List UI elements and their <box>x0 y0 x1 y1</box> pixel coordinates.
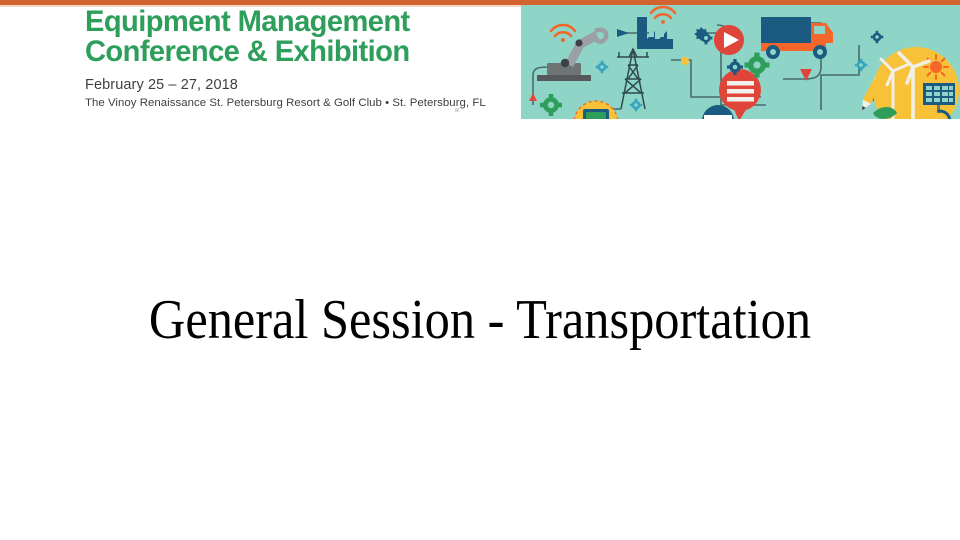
play-button-icon <box>714 25 744 55</box>
conference-venue: The Vinoy Renaissance St. Petersburg Res… <box>85 96 515 110</box>
conference-name: Equipment Management Conference & Exhibi… <box>85 7 502 67</box>
conference-banner-image <box>521 5 960 119</box>
conference-date: February 25 – 27, 2018 <box>85 77 515 94</box>
conference-lockup: Equipment Management Conference & Exhibi… <box>85 7 515 110</box>
conference-name-line1: Equipment Management <box>85 5 410 38</box>
slide-canvas: Equipment Management Conference & Exhibi… <box>0 0 960 540</box>
session-title: General Session - Transportation <box>48 285 912 355</box>
sun-icon <box>924 55 948 79</box>
conference-name-line2: Conference & Exhibition <box>85 37 502 67</box>
image-artifact-speck <box>455 108 459 112</box>
